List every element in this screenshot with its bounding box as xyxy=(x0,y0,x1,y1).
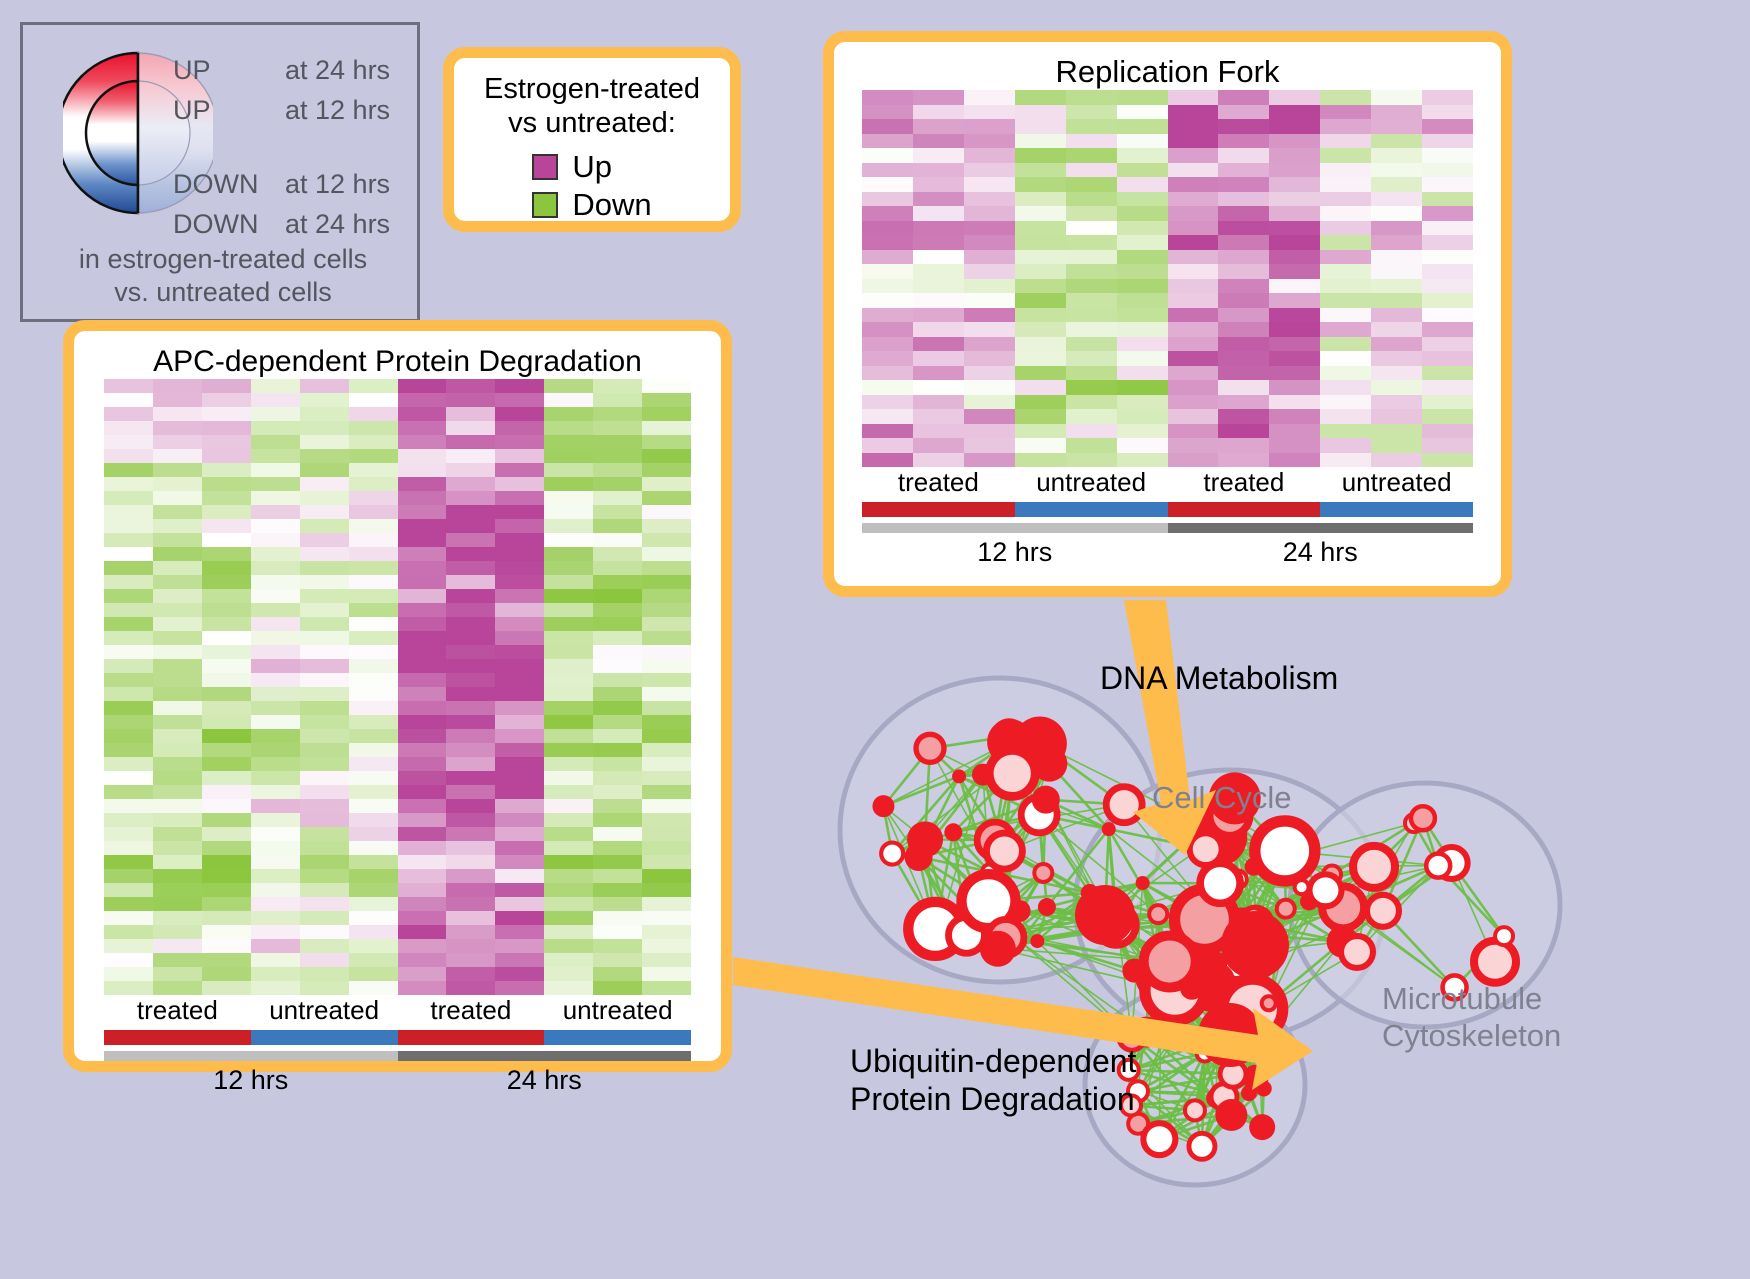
heatmap-cell xyxy=(495,631,544,645)
heatmap-cell xyxy=(300,631,349,645)
heatmap-cell xyxy=(544,379,593,393)
heatmap-cell xyxy=(495,939,544,953)
heatmap-cell xyxy=(446,855,495,869)
heatmap-cell xyxy=(642,463,691,477)
heatmap-cell xyxy=(398,743,447,757)
network-node[interactable] xyxy=(1106,787,1142,823)
heatmap-cell xyxy=(1422,105,1473,120)
heatmap-cell xyxy=(300,421,349,435)
heatmap-cell xyxy=(104,603,153,617)
heatmap-replication-fork xyxy=(862,90,1473,467)
heatmap-cell xyxy=(495,981,544,995)
heatmap-cell xyxy=(1422,279,1473,294)
heatmap-cell xyxy=(300,813,349,827)
heatmap-cell xyxy=(1269,134,1320,149)
heatmap-cell xyxy=(446,561,495,575)
heatmap-cell xyxy=(104,869,153,883)
legend-label-down: Down xyxy=(572,187,651,223)
treatment-label: treated xyxy=(1168,467,1321,498)
network-node[interactable] xyxy=(1031,746,1067,782)
network-node[interactable] xyxy=(1009,900,1031,922)
network-node[interactable] xyxy=(1474,941,1516,983)
heatmap-cell xyxy=(593,589,642,603)
heatmap-cell xyxy=(642,967,691,981)
heatmap-cell xyxy=(251,925,300,939)
heatmap-cell xyxy=(300,645,349,659)
heatmap-cell xyxy=(251,939,300,953)
network-node[interactable] xyxy=(1249,1114,1275,1140)
heatmap-cell xyxy=(153,953,202,967)
heatmap-cell xyxy=(1168,322,1219,337)
heatmap-cell xyxy=(1218,337,1269,352)
network-node[interactable] xyxy=(990,939,1008,957)
heatmap-cell xyxy=(300,547,349,561)
heatmap-cell xyxy=(349,799,398,813)
heatmap-cell xyxy=(1015,424,1066,439)
heatmap-cell xyxy=(251,897,300,911)
heatmap-cell xyxy=(1015,119,1066,134)
heatmap-cell xyxy=(251,617,300,631)
heatmap-cell xyxy=(446,771,495,785)
wheel-row-up-24: UP at 24 hrs xyxy=(173,55,423,95)
network-node[interactable] xyxy=(1255,821,1315,881)
heatmap-cell xyxy=(300,463,349,477)
heatmap-cell xyxy=(495,701,544,715)
heatmap-cell xyxy=(1015,438,1066,453)
heatmap-cell xyxy=(446,589,495,603)
heatmap-cell xyxy=(300,477,349,491)
heatmap-cell xyxy=(446,743,495,757)
heatmap-cell xyxy=(300,715,349,729)
heatmap-cell xyxy=(1015,264,1066,279)
heatmap-cell xyxy=(349,645,398,659)
heatmap-cell xyxy=(251,715,300,729)
network-node[interactable] xyxy=(1295,880,1309,894)
network-node[interactable] xyxy=(1241,1085,1257,1101)
network-node[interactable] xyxy=(944,823,962,841)
heatmap-cell xyxy=(104,953,153,967)
heatmap-cell xyxy=(642,799,691,813)
treatment-colour-bar xyxy=(862,502,1473,517)
network-node[interactable] xyxy=(1034,864,1052,882)
network-node[interactable] xyxy=(1215,1099,1247,1131)
heatmap-cell xyxy=(1015,279,1066,294)
heatmap-cell xyxy=(544,617,593,631)
heatmap-cell xyxy=(862,206,913,221)
network-node[interactable] xyxy=(881,843,903,865)
treatment-label: untreated xyxy=(544,995,691,1026)
heatmap-cell xyxy=(1168,177,1219,192)
heatmap-cell xyxy=(398,603,447,617)
heatmap-cell xyxy=(593,701,642,715)
heatmap-cell xyxy=(1218,235,1269,250)
network-node[interactable] xyxy=(1180,976,1204,1000)
heatmap-cell xyxy=(1117,163,1168,178)
heatmap-cell xyxy=(1066,235,1117,250)
heatmap-cell xyxy=(104,589,153,603)
heatmap-cell xyxy=(153,939,202,953)
heatmap-cell xyxy=(544,883,593,897)
heatmap-cell xyxy=(642,603,691,617)
heatmap-cell xyxy=(593,407,642,421)
heatmap-cell xyxy=(1168,235,1219,250)
heatmap-cell xyxy=(913,148,964,163)
heatmap-cell xyxy=(153,981,202,995)
heatmap-cell xyxy=(642,757,691,771)
heatmap-cell xyxy=(1320,308,1371,323)
heatmap-cell xyxy=(446,799,495,813)
network-node[interactable] xyxy=(989,750,1035,796)
network-node[interactable] xyxy=(986,833,1022,869)
heatmap-cell xyxy=(349,407,398,421)
heatmap-cell xyxy=(446,869,495,883)
heatmap-cell xyxy=(1269,221,1320,236)
network-node[interactable] xyxy=(1353,846,1395,888)
network-node[interactable] xyxy=(1411,806,1435,830)
heatmap-cell xyxy=(544,785,593,799)
heatmap-cell xyxy=(1422,206,1473,221)
network-node[interactable] xyxy=(1102,822,1116,836)
heatmap-cell xyxy=(1015,308,1066,323)
heatmap-cell xyxy=(1117,264,1168,279)
heatmap-cell xyxy=(1422,366,1473,381)
heatmap-cell xyxy=(495,407,544,421)
heatmap-cell xyxy=(349,729,398,743)
heatmap-cell xyxy=(251,729,300,743)
network-node[interactable] xyxy=(1262,996,1276,1010)
heatmap-cell xyxy=(104,813,153,827)
heatmap-cell xyxy=(544,799,593,813)
heatmap-cell xyxy=(1015,337,1066,352)
heatmap-cell xyxy=(251,575,300,589)
heatmap-cell xyxy=(398,869,447,883)
time-label: 24 hrs xyxy=(398,1065,692,1096)
heatmap-cell xyxy=(964,163,1015,178)
heatmap-cell xyxy=(642,659,691,673)
heatmap-cell xyxy=(1117,366,1168,381)
heatmap-cell xyxy=(251,435,300,449)
heatmap-cell xyxy=(913,308,964,323)
heatmap-cell xyxy=(1320,293,1371,308)
heatmap-cell xyxy=(1168,119,1219,134)
heatmap-cell xyxy=(300,855,349,869)
heatmap-cell xyxy=(1371,105,1422,120)
heatmap-cell xyxy=(544,407,593,421)
heatmap-cell xyxy=(1066,322,1117,337)
heatmap-cell xyxy=(300,701,349,715)
time-labels: 12 hrs 24 hrs xyxy=(862,537,1473,568)
heatmap-cell xyxy=(1066,453,1117,468)
heatmap-cell xyxy=(1066,206,1117,221)
heatmap-cell xyxy=(642,519,691,533)
heatmap-cell xyxy=(398,421,447,435)
heatmap-cell xyxy=(104,827,153,841)
heatmap-cell xyxy=(642,673,691,687)
heatmap-cell xyxy=(1320,177,1371,192)
heatmap-cell xyxy=(495,547,544,561)
heatmap-cell xyxy=(913,192,964,207)
network-node[interactable] xyxy=(1367,895,1399,927)
heatmap-cell xyxy=(104,701,153,715)
heatmap-cell xyxy=(1015,148,1066,163)
heatmap-cell xyxy=(446,939,495,953)
heatmap-cell xyxy=(398,407,447,421)
heatmap-cell xyxy=(862,177,913,192)
heatmap-cell xyxy=(1371,177,1422,192)
heatmap-cell xyxy=(202,477,251,491)
heatmap-cell xyxy=(1218,308,1269,323)
heatmap-cell xyxy=(349,981,398,995)
heatmap-cell xyxy=(1066,148,1117,163)
network-node[interactable] xyxy=(1030,934,1044,948)
heatmap-cell xyxy=(349,547,398,561)
heatmap-cell xyxy=(495,841,544,855)
network-node[interactable] xyxy=(916,734,944,762)
network-node[interactable] xyxy=(1136,876,1150,890)
heatmap-cell xyxy=(913,424,964,439)
network-node[interactable] xyxy=(1221,911,1289,979)
heatmap-cell xyxy=(446,407,495,421)
heatmap-cell xyxy=(495,463,544,477)
heatmap-cell xyxy=(153,785,202,799)
heatmap-cell xyxy=(1269,90,1320,105)
heatmap-cell xyxy=(1117,438,1168,453)
heatmap-cell xyxy=(202,841,251,855)
heatmap-cell xyxy=(300,617,349,631)
heatmap-cell xyxy=(300,897,349,911)
heatmap-cell xyxy=(593,869,642,883)
heatmap-cell xyxy=(1168,221,1219,236)
heatmap-cell xyxy=(202,827,251,841)
heatmap-cell xyxy=(964,90,1015,105)
heatmap-cell xyxy=(446,393,495,407)
heatmap-cell xyxy=(1168,395,1219,410)
heatmap-cell xyxy=(1371,148,1422,163)
heatmap-cell xyxy=(1269,438,1320,453)
heatmap-cell xyxy=(1015,177,1066,192)
heatmap-cell xyxy=(544,687,593,701)
heatmap-cell xyxy=(153,715,202,729)
heatmap-cell xyxy=(153,701,202,715)
heatmap-cell xyxy=(1066,105,1117,120)
heatmap-cell xyxy=(495,855,544,869)
heatmap-cell xyxy=(349,533,398,547)
heatmap-cell xyxy=(913,322,964,337)
heatmap-cell xyxy=(349,743,398,757)
heatmap-cell xyxy=(398,561,447,575)
network-node[interactable] xyxy=(1143,1123,1175,1155)
heatmap-cell xyxy=(544,645,593,659)
treatment-bar-segment xyxy=(1320,502,1473,517)
heatmap-cell xyxy=(1066,351,1117,366)
heatmap-cell xyxy=(300,925,349,939)
network-node[interactable] xyxy=(1134,1019,1160,1045)
network-node[interactable] xyxy=(872,795,894,817)
heatmap-cell xyxy=(446,631,495,645)
heatmap-cell xyxy=(1371,293,1422,308)
heatmap-cell xyxy=(1066,409,1117,424)
network-node[interactable] xyxy=(1200,863,1240,903)
heatmap-cell xyxy=(913,235,964,250)
heatmap-cell xyxy=(1015,322,1066,337)
heatmap-cell xyxy=(202,743,251,757)
heatmap-cell xyxy=(495,729,544,743)
heatmap-cell xyxy=(446,421,495,435)
heatmap-cell xyxy=(300,687,349,701)
heatmap-cell xyxy=(1015,395,1066,410)
panel-apc-dependent-protein-degradation: APC-dependent Protein Degradation treate… xyxy=(63,320,732,1072)
heatmap-cell xyxy=(544,911,593,925)
heatmap-cell xyxy=(202,379,251,393)
network-node[interactable] xyxy=(952,769,966,783)
heatmap-cell xyxy=(964,438,1015,453)
heatmap-cell xyxy=(446,547,495,561)
cluster-label-microtubule-cytoskeleton: Microtubule Cytoskeleton xyxy=(1382,980,1561,1054)
heatmap-cell xyxy=(1168,308,1219,323)
heatmap-cell xyxy=(964,395,1015,410)
heatmap-cell xyxy=(202,673,251,687)
heatmap-cell xyxy=(251,463,300,477)
network-node[interactable] xyxy=(907,821,943,857)
heatmap-cell xyxy=(1117,453,1168,468)
heatmap-cell xyxy=(544,827,593,841)
heatmap-cell xyxy=(1117,409,1168,424)
heatmap-cell xyxy=(964,279,1015,294)
heatmap-cell xyxy=(642,533,691,547)
panel-title: Replication Fork xyxy=(862,54,1473,90)
heatmap-cell xyxy=(349,435,398,449)
heatmap-cell xyxy=(1066,177,1117,192)
heatmap-cell xyxy=(1117,308,1168,323)
heatmap-cell xyxy=(642,393,691,407)
heatmap-cell xyxy=(202,869,251,883)
heatmap-cell xyxy=(1218,163,1269,178)
heatmap-cell xyxy=(913,380,964,395)
heatmap-cell xyxy=(202,393,251,407)
heatmap-cell xyxy=(1117,148,1168,163)
heatmap-cell xyxy=(1117,119,1168,134)
heatmap-cell xyxy=(913,264,964,279)
legend-label-up: Up xyxy=(572,149,612,185)
heatmap-cell xyxy=(544,701,593,715)
heatmap-cell xyxy=(1066,438,1117,453)
heatmap-cell xyxy=(1066,279,1117,294)
heatmap-cell xyxy=(642,631,691,645)
cluster-label-line-1: Ubiquitin-dependent xyxy=(850,1042,1136,1080)
network-node[interactable] xyxy=(1277,900,1295,918)
heatmap-cell xyxy=(1371,395,1422,410)
heatmap-cell xyxy=(642,827,691,841)
heatmap-cell xyxy=(1168,148,1219,163)
heatmap-cell xyxy=(862,438,913,453)
heatmap-cell xyxy=(1269,293,1320,308)
heatmap-cell xyxy=(251,785,300,799)
heatmap-cell xyxy=(1168,293,1219,308)
heatmap-cell xyxy=(1422,90,1473,105)
network-node[interactable] xyxy=(1426,854,1450,878)
heatmap-cell xyxy=(300,827,349,841)
heatmap-cell xyxy=(593,631,642,645)
heatmap-cell xyxy=(398,435,447,449)
network-node[interactable] xyxy=(1185,1100,1205,1120)
heatmap-cell xyxy=(104,407,153,421)
heatmap-cell xyxy=(642,715,691,729)
heatmap-cell xyxy=(104,883,153,897)
heatmap-cell xyxy=(1320,250,1371,265)
heatmap-cell xyxy=(544,729,593,743)
heatmap-cell xyxy=(593,379,642,393)
heatmap-cell xyxy=(1422,322,1473,337)
heatmap-cell xyxy=(593,477,642,491)
heatmap-cell xyxy=(104,911,153,925)
heatmap-cell xyxy=(495,687,544,701)
colour-wheel-rows: UP at 24 hrs UP at 12 hrs DOWN at 12 hrs… xyxy=(173,55,423,249)
heatmap-cell xyxy=(1218,119,1269,134)
network-node[interactable] xyxy=(1189,1133,1215,1159)
heatmap-cell xyxy=(202,771,251,785)
heatmap-cell xyxy=(544,715,593,729)
heatmap-cell xyxy=(300,743,349,757)
heatmap-cell xyxy=(862,279,913,294)
heatmap-cell xyxy=(251,841,300,855)
heatmap-cell xyxy=(593,533,642,547)
heatmap-cell xyxy=(202,687,251,701)
network-node[interactable] xyxy=(1309,874,1341,906)
heatmap-cell xyxy=(349,967,398,981)
heatmap-cell xyxy=(495,799,544,813)
heatmap-cell xyxy=(153,449,202,463)
network-node[interactable] xyxy=(1075,885,1135,945)
heatmap-cell xyxy=(153,799,202,813)
network-node[interactable] xyxy=(1149,905,1167,923)
heatmap-cell xyxy=(913,409,964,424)
network-node[interactable] xyxy=(1245,858,1263,876)
network-node[interactable] xyxy=(1032,786,1060,814)
network-node[interactable] xyxy=(1341,936,1373,968)
network-node[interactable] xyxy=(1198,1003,1262,1067)
heatmap-cell xyxy=(104,967,153,981)
heatmap-cell xyxy=(642,491,691,505)
heatmap-cell xyxy=(153,673,202,687)
heatmap-cell xyxy=(1168,337,1219,352)
heatmap-cell xyxy=(593,505,642,519)
heatmap-cell xyxy=(398,897,447,911)
heatmap-cell xyxy=(1218,351,1269,366)
heatmap-cell xyxy=(153,729,202,743)
heatmap-cell xyxy=(1320,148,1371,163)
heatmap-cell xyxy=(349,589,398,603)
wheel-key: DOWN xyxy=(173,209,285,240)
network-node[interactable] xyxy=(1038,898,1056,916)
network-node[interactable] xyxy=(1256,1080,1272,1096)
heatmap-cell xyxy=(202,533,251,547)
heatmap-cell xyxy=(398,491,447,505)
heatmap-cell xyxy=(398,659,447,673)
heatmap-cell xyxy=(1218,279,1269,294)
cluster-label-dna-metabolism: DNA Metabolism xyxy=(1100,660,1338,697)
heatmap-cell xyxy=(964,221,1015,236)
legend-title-line-1: Estrogen-treated xyxy=(454,72,730,106)
heatmap-cell xyxy=(964,453,1015,468)
heatmap-cell xyxy=(1269,105,1320,120)
heatmap-cell xyxy=(593,939,642,953)
heatmap-cell xyxy=(1015,366,1066,381)
heatmap-cell xyxy=(1269,250,1320,265)
heatmap-cell xyxy=(349,561,398,575)
network-node[interactable] xyxy=(1495,927,1513,945)
heatmap-cell xyxy=(1218,424,1269,439)
heatmap-cell xyxy=(202,967,251,981)
